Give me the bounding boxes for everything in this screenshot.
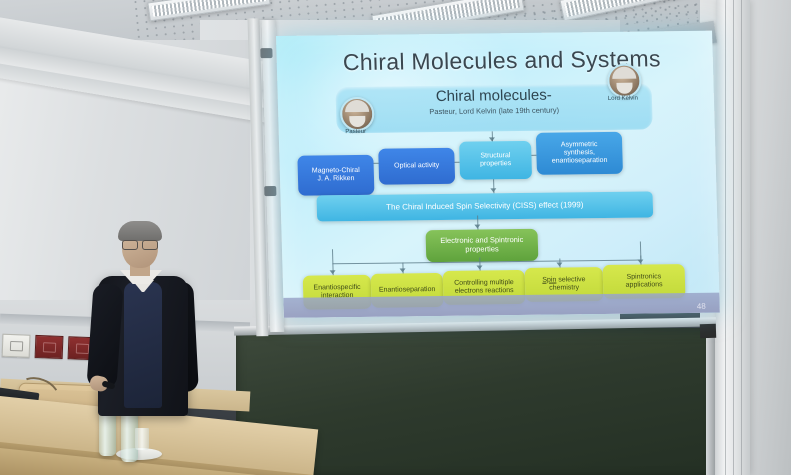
node-asymmetric-synthesis: Asymmetric synthesis, enantioseparation	[536, 132, 623, 175]
portrait-pasteur-label: Pasteur	[329, 129, 383, 136]
projection-screen: Chiral Molecules and Systems Chiral mole…	[276, 31, 720, 336]
arrow-down-icon	[474, 224, 480, 228]
presenter-hair	[118, 221, 162, 241]
presenter-sweater	[124, 282, 162, 408]
node-app1-line1: Enantiospecific	[313, 284, 360, 293]
glasses-icon	[122, 240, 158, 248]
arrow-down-icon	[476, 265, 482, 269]
node-app4-line1b: selective	[556, 276, 585, 283]
slide-page-number: 48	[697, 302, 706, 311]
presenter	[84, 224, 202, 424]
arrow-down-icon	[330, 270, 336, 274]
node-electronic-spintronic: Electronic and Spintronic properties	[425, 229, 538, 262]
node-ciss-effect: The Chiral Induced Spin Selectivity (CIS…	[316, 191, 653, 221]
screen-bracket-top	[260, 48, 272, 58]
slide-content: Chiral Molecules and Systems Chiral mole…	[276, 31, 720, 318]
node-electronic-line2: properties	[440, 245, 523, 255]
node-asym-line3: enantioseparation	[552, 157, 608, 166]
node-app4-line2: chemistry	[542, 284, 585, 293]
portrait-lord-kelvin	[607, 64, 642, 98]
drinking-glass	[135, 428, 149, 450]
arrow-down-icon	[556, 262, 562, 266]
connector-fanout-left	[332, 249, 333, 263]
node-magneto-line2: J. A. Rikken	[312, 175, 360, 184]
arrow-down-icon	[400, 268, 406, 272]
screen-bracket-bottom	[264, 186, 276, 196]
portrait-lord-kelvin-label: Lord Kelvin	[596, 95, 650, 102]
wall-pillar	[716, 0, 750, 475]
node-optical-activity: Optical activity	[378, 148, 455, 185]
power-outlet-red	[35, 334, 64, 358]
power-outlet	[2, 333, 31, 357]
lecture-hall-photo: Talking Uniformed Room Chiral Molecules …	[0, 0, 791, 475]
node-structural-line2: properties	[480, 160, 511, 169]
portrait-pasteur	[340, 97, 375, 131]
node-app5-line2: applications	[626, 281, 663, 290]
node-app4-link[interactable]: Spin	[542, 276, 556, 283]
header-title: Chiral molecules-	[374, 86, 614, 106]
arrow-down-icon	[637, 260, 643, 264]
chalkboard-frame-right	[706, 328, 715, 475]
slide-footer-bar	[283, 293, 720, 318]
node-structural-properties: Structural properties	[459, 141, 532, 180]
arrow-down-icon	[490, 188, 496, 192]
node-magneto-chiral: Magneto-Chiral J. A. Rikken	[297, 155, 374, 196]
